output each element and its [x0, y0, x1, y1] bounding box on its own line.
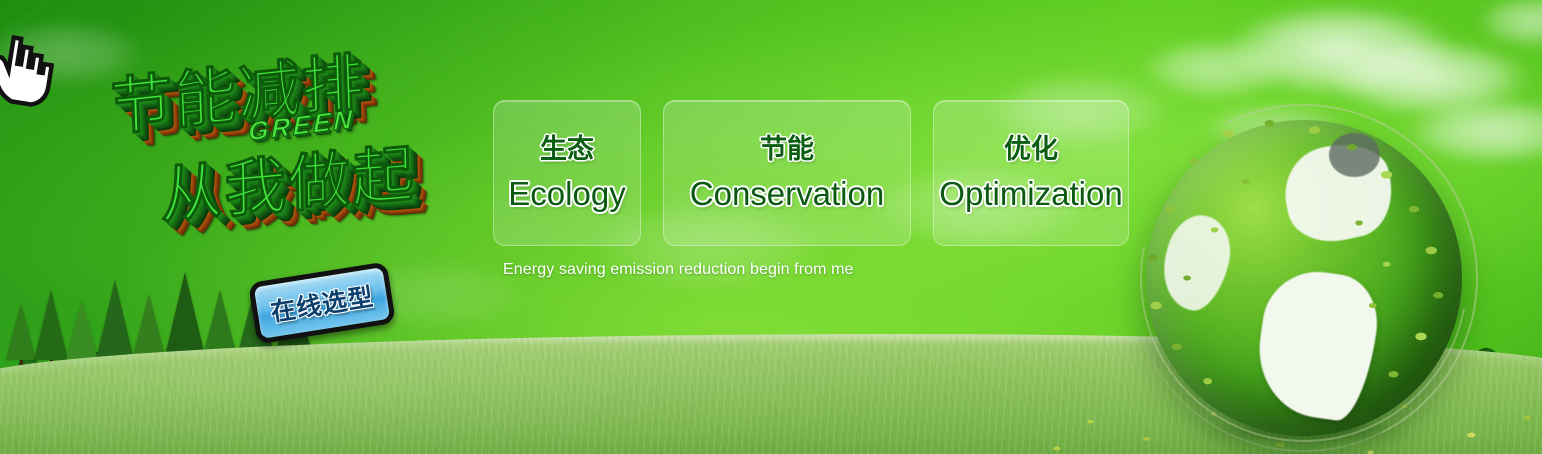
feature-card-en-label: Optimization — [939, 177, 1122, 210]
feature-card-cn-label: 优化 — [1004, 136, 1058, 163]
feature-card-ecology[interactable]: 生态 Ecology — [493, 100, 641, 246]
eco-hero-banner: 节能减排 GREEN 从我做起 在线选型 生态 Ecology 节能 Conse… — [0, 0, 1542, 454]
feature-card-cn-label: 生态 — [540, 136, 594, 163]
hand-pointer-icon — [0, 26, 71, 114]
headline-line-2: 从我做起 — [160, 123, 417, 236]
feature-card-en-label: Ecology — [508, 177, 625, 210]
headline-3d-art: 节能减排 GREEN 从我做起 — [96, 36, 496, 276]
banner-tagline: Energy saving emission reduction begin f… — [503, 261, 854, 279]
online-selection-label: 在线选型 — [268, 277, 376, 329]
feature-card-row: 生态 Ecology 节能 Conservation 优化 Optimizati… — [493, 100, 1129, 246]
feature-card-cn-label: 节能 — [760, 136, 814, 163]
feature-card-en-label: Conservation — [690, 177, 884, 210]
feature-card-optimization[interactable]: 优化 Optimization — [933, 100, 1129, 246]
feature-card-conservation[interactable]: 节能 Conservation — [663, 100, 911, 246]
leafy-globe-icon — [1146, 120, 1462, 436]
